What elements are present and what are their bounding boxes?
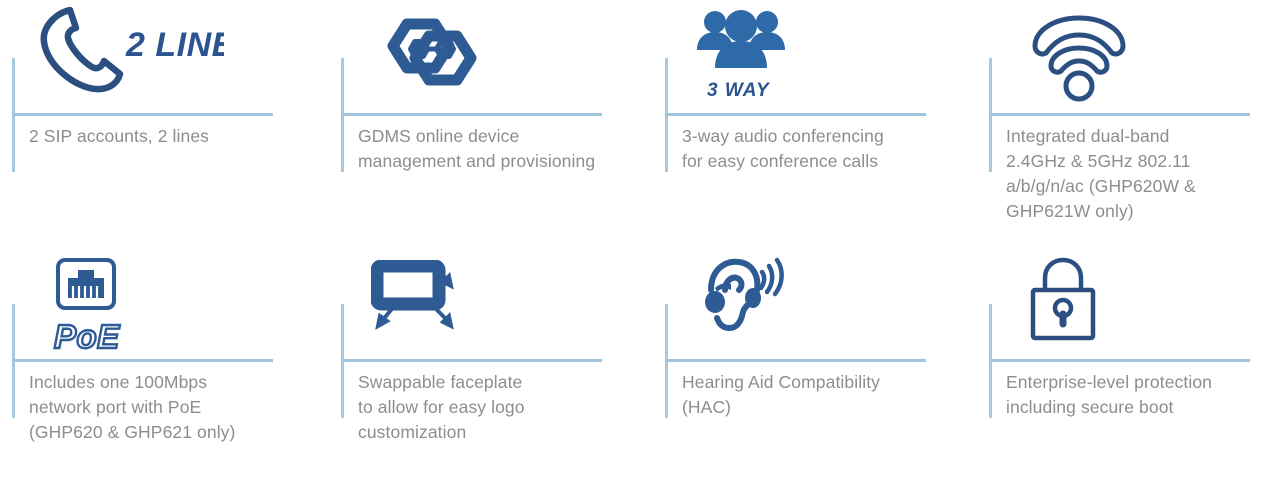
horizontal-rule bbox=[665, 359, 926, 362]
gdms-hexagon-icon bbox=[363, 4, 583, 108]
horizontal-rule bbox=[989, 113, 1250, 116]
feature-description: 2 SIP accounts, 2 lines bbox=[29, 124, 297, 149]
ethernet-port-icon: PoE bbox=[34, 250, 254, 354]
hearing-aid-ear-icon bbox=[687, 250, 907, 354]
feature-card-poe: PoE Includes one 100Mbps network port wi… bbox=[0, 246, 316, 488]
feature-description: Enterprise-level protection including se… bbox=[1006, 370, 1264, 420]
feature-card-wifi: Integrated dual-band 2.4GHz & 5GHz 802.1… bbox=[977, 0, 1264, 242]
feature-description: Hearing Aid Compatibility (HAC) bbox=[682, 370, 942, 420]
horizontal-rule bbox=[341, 359, 602, 362]
horizontal-rule bbox=[341, 113, 602, 116]
feature-description: Integrated dual-band 2.4GHz & 5GHz 802.1… bbox=[1006, 124, 1264, 224]
swappable-faceplate-icon bbox=[363, 250, 583, 354]
feature-card-two-lines: 2 LINES 2 SIP accounts, 2 lines bbox=[0, 0, 316, 242]
horizontal-rule bbox=[12, 113, 273, 116]
horizontal-rule bbox=[665, 113, 926, 116]
feature-card-hac: Hearing Aid Compatibility (HAC) bbox=[653, 246, 969, 488]
padlock-icon bbox=[1011, 250, 1231, 354]
svg-text:PoE: PoE bbox=[54, 318, 120, 355]
svg-text:2 LINES: 2 LINES bbox=[125, 26, 224, 64]
feature-description: Includes one 100Mbps network port with P… bbox=[29, 370, 297, 445]
feature-card-three-way: 3 WAY 3-way audio conferencing for easy … bbox=[653, 0, 969, 242]
horizontal-rule bbox=[989, 359, 1250, 362]
feature-description: Swappable faceplate to allow for easy lo… bbox=[358, 370, 626, 445]
feature-description: 3-way audio conferencing for easy confer… bbox=[682, 124, 942, 174]
feature-card-gdms: GDMS online device management and provis… bbox=[329, 0, 645, 242]
svg-text:3 WAY: 3 WAY bbox=[707, 80, 771, 101]
feature-card-security: Enterprise-level protection including se… bbox=[977, 246, 1264, 488]
feature-card-faceplate: Swappable faceplate to allow for easy lo… bbox=[329, 246, 645, 488]
feature-grid: 2 LINES 2 SIP accounts, 2 lines GDMS onl… bbox=[0, 0, 1264, 484]
wifi-icon bbox=[1011, 4, 1231, 108]
feature-description: GDMS online device management and provis… bbox=[358, 124, 626, 174]
horizontal-rule bbox=[12, 359, 273, 362]
three-people-icon: 3 WAY bbox=[687, 4, 907, 108]
phone-handset-icon: 2 LINES bbox=[34, 4, 254, 108]
